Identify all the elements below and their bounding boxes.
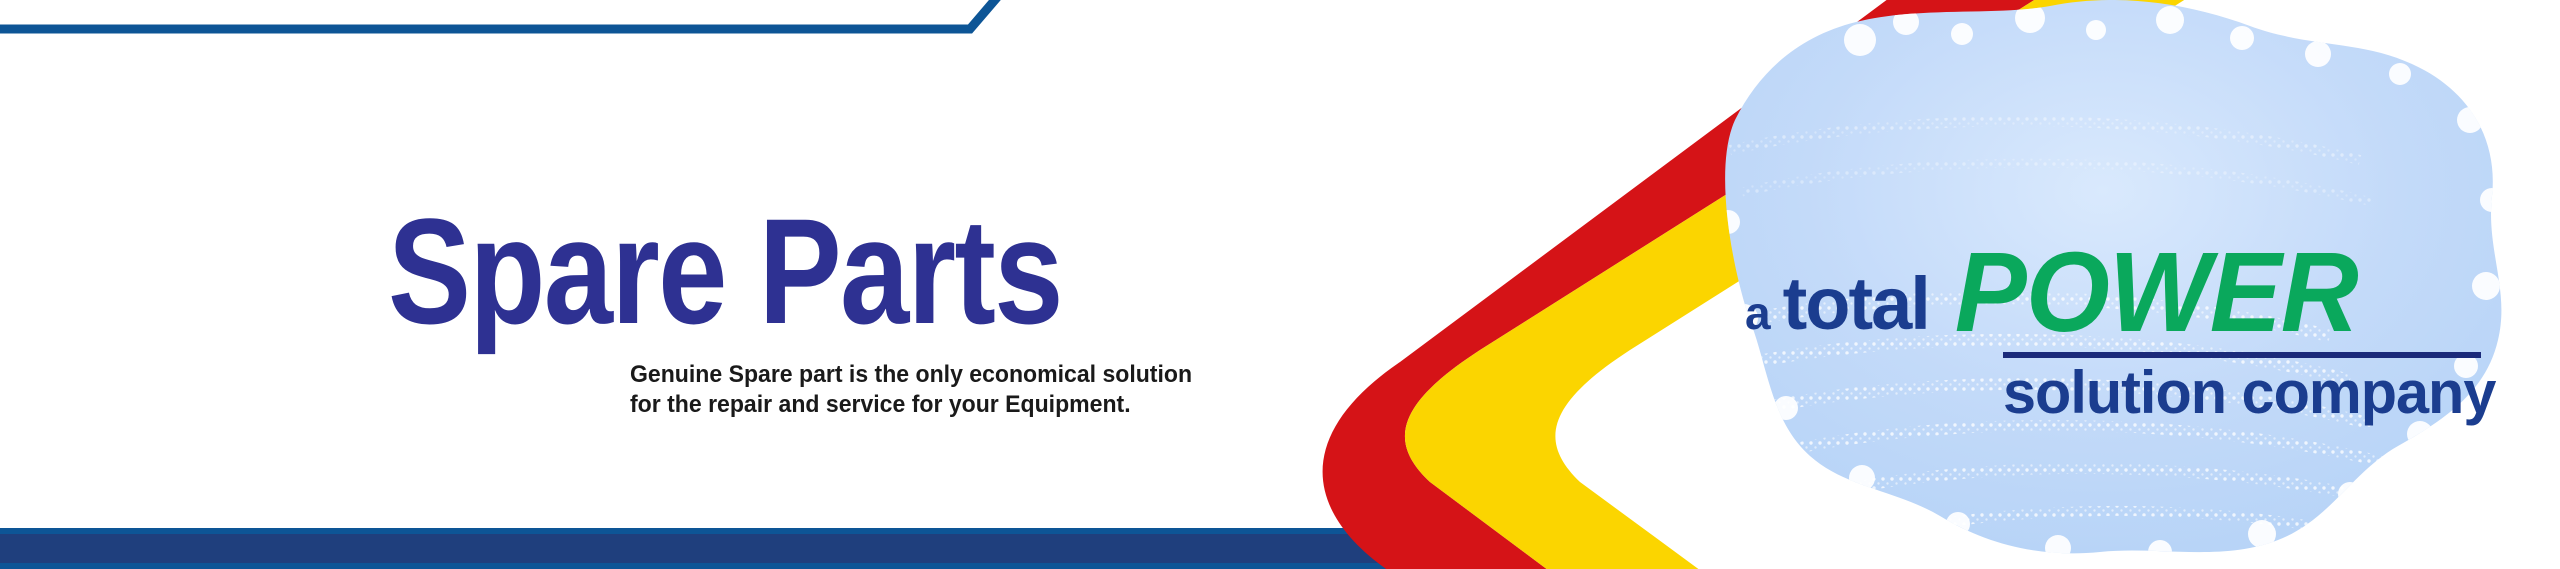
company-logo: a total POWER solution company bbox=[1745, 238, 2500, 426]
logo-word-power: POWER bbox=[1955, 235, 2358, 348]
logo-top-row: a total POWER bbox=[1745, 238, 2500, 346]
left-text-block: Spare Parts Genuine Spare part is the on… bbox=[0, 0, 1300, 569]
page-title: Spare Parts bbox=[388, 196, 1062, 346]
logo-word-total: total bbox=[1783, 267, 1929, 341]
spare-parts-banner: Spare Parts Genuine Spare part is the on… bbox=[0, 0, 2560, 569]
subtitle-copy: Genuine Spare part is the only economica… bbox=[630, 360, 1225, 420]
logo-word-a: a bbox=[1745, 290, 1771, 336]
logo-tagline: solution company bbox=[2003, 360, 2495, 426]
